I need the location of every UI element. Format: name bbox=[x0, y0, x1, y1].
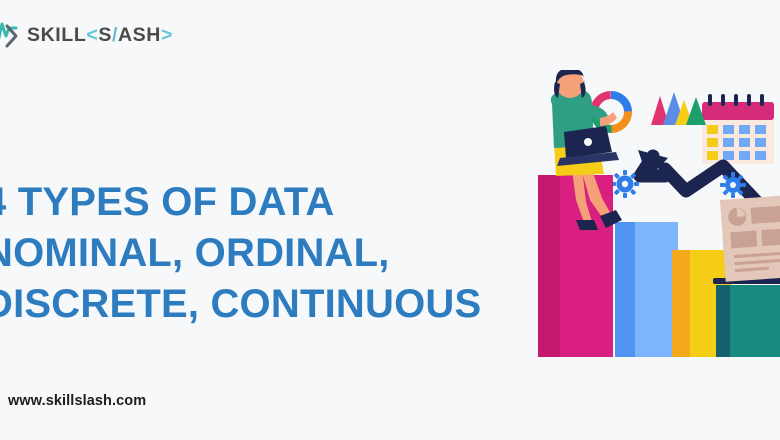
brand-logo-text: SKILL<S/ASH> bbox=[27, 26, 173, 46]
logo-text-part3: ASH bbox=[118, 24, 161, 46]
title-line-1: 4 TYPES OF DATA bbox=[0, 177, 544, 228]
logo-text-part1: SKILL bbox=[27, 24, 86, 46]
data-analytics-illustration bbox=[520, 70, 780, 380]
logo-bracket-close: > bbox=[161, 24, 173, 46]
page-title: 4 TYPES OF DATA NOMINAL, ORDINAL, DISCRE… bbox=[0, 177, 544, 330]
skillslash-chevron-logo-icon bbox=[0, 22, 20, 50]
bar-chart-graphic bbox=[538, 175, 732, 357]
brand-logo[interactable]: SKILL<S/ASH> bbox=[0, 22, 173, 50]
title-line-3: DISCRETE, CONTINUOUS bbox=[0, 279, 544, 330]
gear-icon-right bbox=[720, 172, 746, 198]
gear-icon-left bbox=[611, 170, 639, 198]
logo-bracket-open: < bbox=[86, 24, 98, 46]
footer-website-url[interactable]: www.skillslash.com bbox=[8, 393, 146, 409]
logo-text-part2: S bbox=[98, 24, 112, 46]
article-banner: SKILL<S/ASH> 4 TYPES OF DATA NOMINAL, OR… bbox=[0, 0, 780, 440]
triangle-chart-icon bbox=[651, 92, 706, 125]
title-line-2: NOMINAL, ORDINAL, bbox=[0, 228, 544, 279]
calendar-icon bbox=[702, 94, 774, 164]
